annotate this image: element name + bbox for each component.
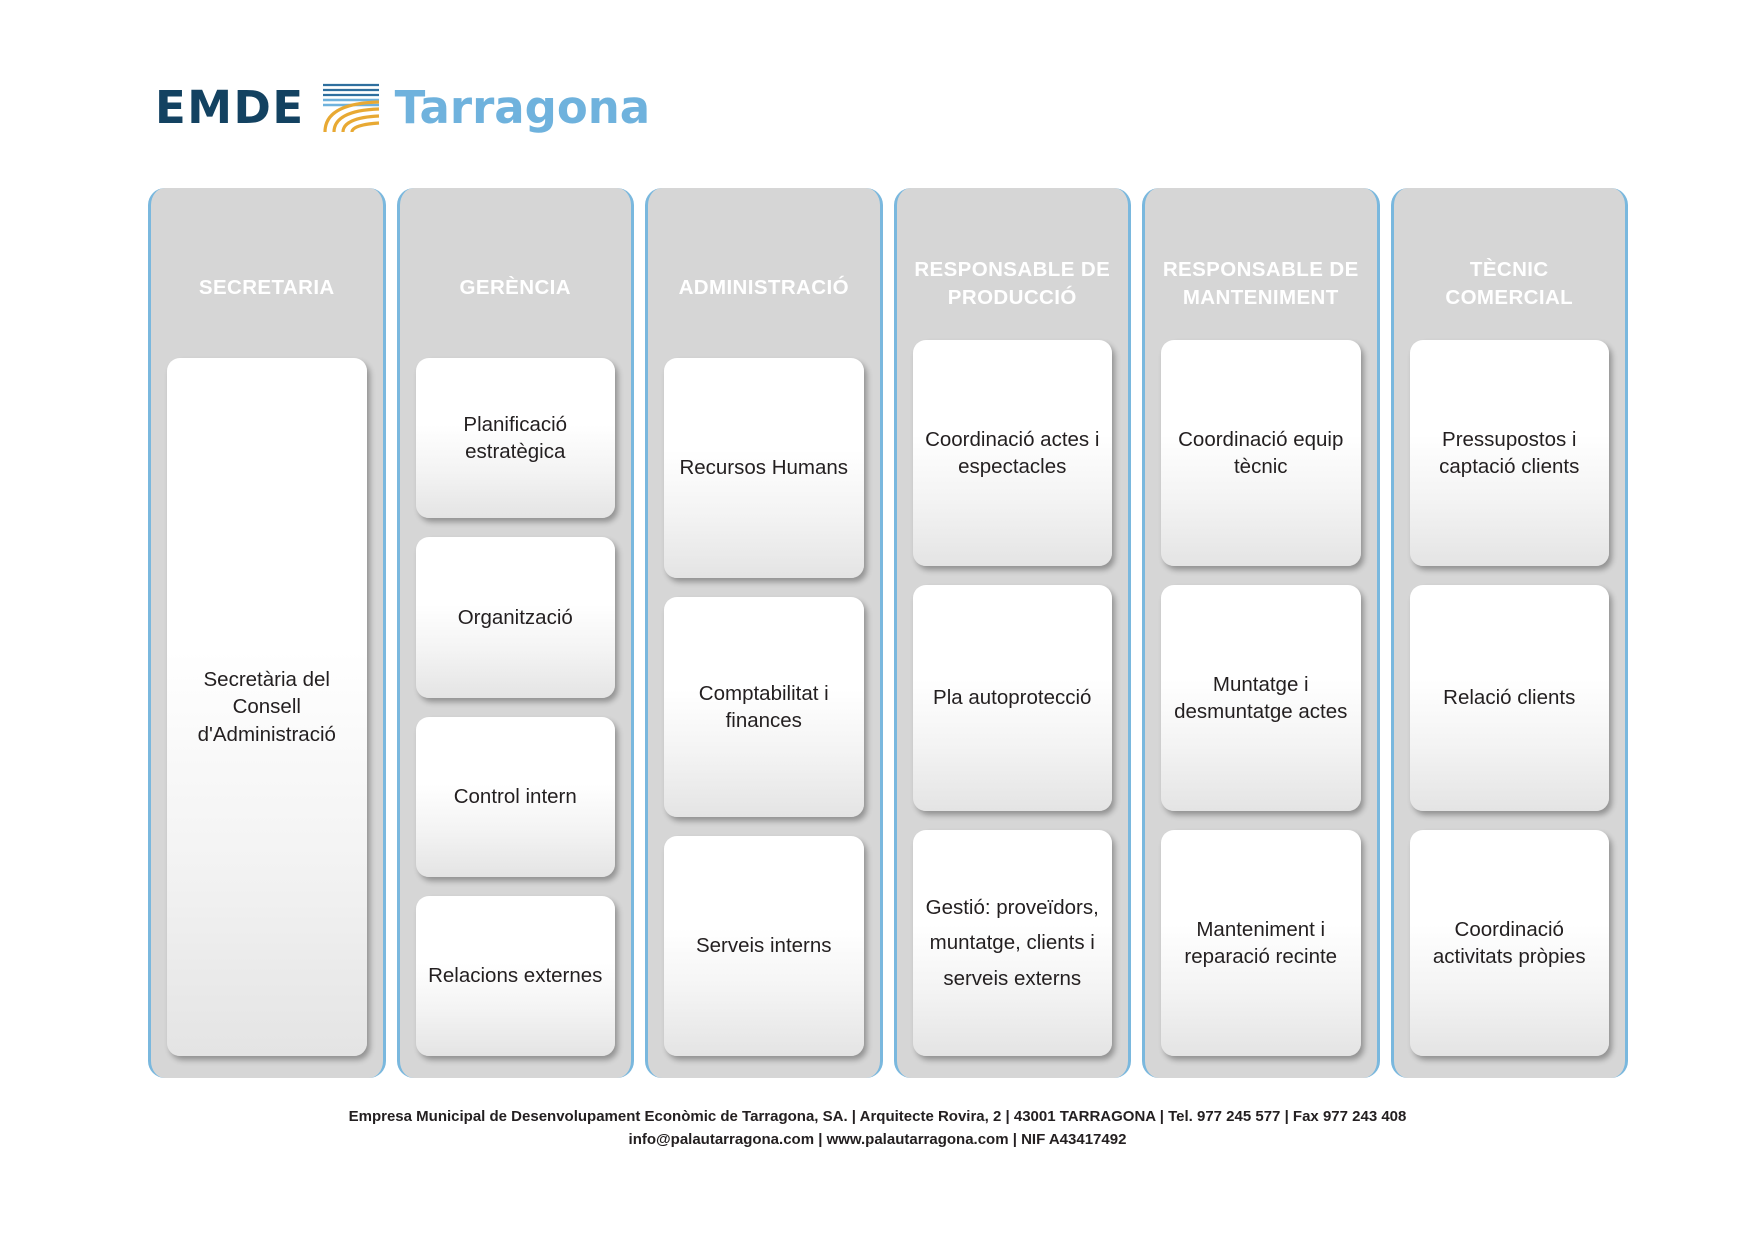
org-card[interactable]: Pla autoprotecció xyxy=(913,585,1113,811)
org-column-tecnic-comercial: TÈCNIC COMERCIAL Pressupostos i captació… xyxy=(1391,188,1629,1078)
column-header: GERÈNCIA xyxy=(416,274,616,336)
brand-logo: EMDE Tarragona xyxy=(155,75,650,139)
card-list: Coordinació equip tècnic Muntatge i desm… xyxy=(1161,328,1361,1056)
column-header: RESPONSABLE DE PRODUCCIÓ xyxy=(913,256,1113,318)
org-card[interactable]: Gestió: proveïdors, muntatge, clients i … xyxy=(913,830,1113,1056)
card-list: Coordinació actes i espectacles Pla auto… xyxy=(913,328,1113,1056)
column-header: SECRETARIA xyxy=(167,274,367,336)
org-card[interactable]: Relacions externes xyxy=(416,896,616,1056)
logo-emde-text: EMDE xyxy=(155,85,305,130)
org-card[interactable]: Manteniment i reparació recinte xyxy=(1161,830,1361,1056)
org-column-secretaria: SECRETARIA Secretària del Consell d'Admi… xyxy=(148,188,386,1078)
footer-line-contact: info@palautarragona.com | www.palautarra… xyxy=(0,1128,1755,1151)
org-card[interactable]: Coordinació activitats pròpies xyxy=(1410,830,1610,1056)
column-header: RESPONSABLE DE MANTENIMENT xyxy=(1161,256,1361,318)
org-card[interactable]: Muntatge i desmuntatge actes xyxy=(1161,585,1361,811)
footer: Empresa Municipal de Desenvolupament Eco… xyxy=(0,1105,1755,1152)
org-chart: SECRETARIA Secretària del Consell d'Admi… xyxy=(148,188,1628,1078)
org-card[interactable]: Serveis interns xyxy=(664,836,864,1056)
org-card[interactable]: Coordinació actes i espectacles xyxy=(913,340,1113,566)
card-list: Secretària del Consell d'Administració xyxy=(167,346,367,1056)
logo-tarragona-text: Tarragona xyxy=(395,85,651,130)
org-card[interactable]: Recursos Humans xyxy=(664,358,864,578)
org-card[interactable]: Relació clients xyxy=(1410,585,1610,811)
emde-wave-mark-icon xyxy=(321,81,381,133)
org-card[interactable]: Comptabilitat i finances xyxy=(664,597,864,817)
org-column-administracio: ADMINISTRACIÓ Recursos Humans Comptabili… xyxy=(645,188,883,1078)
org-card[interactable]: Pressupostos i captació clients xyxy=(1410,340,1610,566)
org-column-gerencia: GERÈNCIA Planificació estratègica Organi… xyxy=(397,188,635,1078)
card-list: Pressupostos i captació clients Relació … xyxy=(1410,328,1610,1056)
card-list: Planificació estratègica Organització Co… xyxy=(416,346,616,1056)
column-header: ADMINISTRACIÓ xyxy=(664,274,864,336)
org-card[interactable]: Organització xyxy=(416,537,616,697)
column-header: TÈCNIC COMERCIAL xyxy=(1410,256,1610,318)
org-card[interactable]: Coordinació equip tècnic xyxy=(1161,340,1361,566)
org-card[interactable]: Secretària del Consell d'Administració xyxy=(167,358,367,1056)
org-column-responsable-manteniment: RESPONSABLE DE MANTENIMENT Coordinació e… xyxy=(1142,188,1380,1078)
card-list: Recursos Humans Comptabilitat i finances… xyxy=(664,346,864,1056)
org-card[interactable]: Planificació estratègica xyxy=(416,358,616,518)
org-card[interactable]: Control intern xyxy=(416,717,616,877)
org-column-responsable-produccio: RESPONSABLE DE PRODUCCIÓ Coordinació act… xyxy=(894,188,1132,1078)
footer-line-company: Empresa Municipal de Desenvolupament Eco… xyxy=(0,1105,1755,1128)
